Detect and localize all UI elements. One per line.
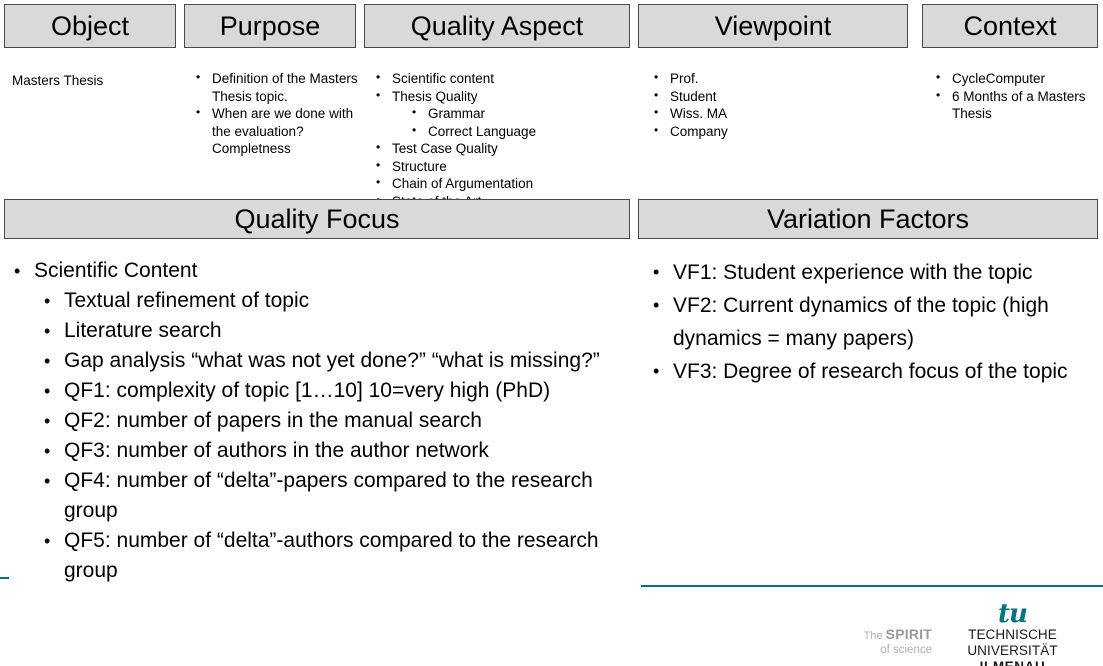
sub-bullet-list-quality-focus: Textual refinement of topic Literature s… <box>6 286 630 586</box>
bullet-list-purpose: Definition of the Masters Thesis topic. … <box>190 70 358 158</box>
list-item: Test Case Quality <box>370 140 628 158</box>
column-content-viewpoint: Prof. Student Wiss. MA Company <box>648 70 900 140</box>
header-label-context: Context <box>963 13 1056 40</box>
spirit-of-science-logo: The SPIRIT of science <box>836 627 932 657</box>
sub-bullet-list-thesis-quality: Grammar Correct Language <box>370 105 628 140</box>
variation-factors-content: VF1: Student experience with the topic V… <box>645 256 1085 388</box>
list-item: QF1: complexity of topic [1…10] 10=very … <box>6 376 630 406</box>
header-label-quality-focus: Quality Focus <box>234 206 399 233</box>
header-box-quality-aspect: Quality Aspect <box>364 4 630 48</box>
header-box-object: Object <box>4 4 176 48</box>
tu-logo-name-line2: ILMENAU <box>930 659 1095 666</box>
header-box-variation-factors: Variation Factors <box>638 199 1098 239</box>
list-item: VF3: Degree of research focus of the top… <box>645 355 1085 388</box>
header-label-object: Object <box>51 13 129 40</box>
spirit-logo-line1: The SPIRIT <box>836 627 932 643</box>
list-item: Scientific Content <box>6 256 630 286</box>
column-content-purpose: Definition of the Masters Thesis topic. … <box>190 70 358 158</box>
footer-divider-rule <box>641 585 1103 587</box>
list-item: Definition of the Masters Thesis topic. <box>190 70 358 105</box>
list-item: QF3: number of authors in the author net… <box>6 436 630 466</box>
slide-canvas: Object Purpose Quality Aspect Viewpoint … <box>0 0 1103 666</box>
header-label-variation-factors: Variation Factors <box>767 206 969 233</box>
list-item: QF2: number of papers in the manual sear… <box>6 406 630 436</box>
list-item: Structure <box>370 158 628 176</box>
header-label-purpose: Purpose <box>220 13 321 40</box>
spirit-logo-line2: of science <box>836 643 932 657</box>
header-box-viewpoint: Viewpoint <box>638 4 908 48</box>
header-label-quality-aspect: Quality Aspect <box>411 13 584 40</box>
list-item: Thesis Quality <box>370 88 628 106</box>
quality-focus-content: Scientific Content Textual refinement of… <box>6 256 630 586</box>
tu-ilmenau-logo: tu TECHNISCHE UNIVERSITÄT ILMENAU <box>930 601 1095 666</box>
column-content-context: CycleComputer 6 Months of a Masters Thes… <box>930 70 1100 123</box>
header-box-quality-focus: Quality Focus <box>4 199 630 239</box>
list-item: CycleComputer <box>930 70 1100 88</box>
list-item: Scientific content <box>370 70 628 88</box>
bullet-list-variation-factors: VF1: Student experience with the topic V… <box>645 256 1085 388</box>
list-item: VF1: Student experience with the topic <box>645 256 1085 289</box>
list-item: Chain of Argumentation <box>370 175 628 193</box>
header-label-viewpoint: Viewpoint <box>715 13 832 40</box>
spirit-word-text: SPIRIT <box>886 626 932 642</box>
list-item: Wiss. MA <box>648 105 900 123</box>
tu-logo-name-line1: TECHNISCHE UNIVERSITÄT <box>930 627 1095 659</box>
list-item: Grammar <box>370 105 628 123</box>
bullet-list-viewpoint: Prof. Student Wiss. MA Company <box>648 70 900 140</box>
spirit-the-text: The <box>864 630 886 642</box>
bullet-list-quality-aspect: Scientific content Thesis Quality <box>370 70 628 105</box>
header-box-purpose: Purpose <box>184 4 356 48</box>
list-item: 6 Months of a Masters Thesis <box>930 88 1100 123</box>
list-item: QF5: number of “delta”-authors compared … <box>6 526 630 586</box>
list-item: Prof. <box>648 70 900 88</box>
list-item: When are we done with the evaluation? Co… <box>190 105 358 158</box>
list-item: Textual refinement of topic <box>6 286 630 316</box>
list-item: Student <box>648 88 900 106</box>
tu-monogram-icon: tu <box>930 601 1095 627</box>
column-content-quality-aspect: Scientific content Thesis Quality Gramma… <box>370 70 628 210</box>
list-item: VF2: Current dynamics of the topic (high… <box>645 289 1085 355</box>
list-item: Gap analysis “what was not yet done?” “w… <box>6 346 630 376</box>
list-item: QF4: number of “delta”-papers compared t… <box>6 466 630 526</box>
list-item: Masters Thesis <box>12 72 172 90</box>
list-item: Company <box>648 123 900 141</box>
column-content-object: Masters Thesis <box>12 72 172 90</box>
left-edge-tick-mark <box>0 577 9 579</box>
list-item: Correct Language <box>370 123 628 141</box>
bullet-list-context: CycleComputer 6 Months of a Masters Thes… <box>930 70 1100 123</box>
bullet-list-quality-focus: Scientific Content <box>6 256 630 286</box>
list-item: Literature search <box>6 316 630 346</box>
header-box-context: Context <box>922 4 1098 48</box>
